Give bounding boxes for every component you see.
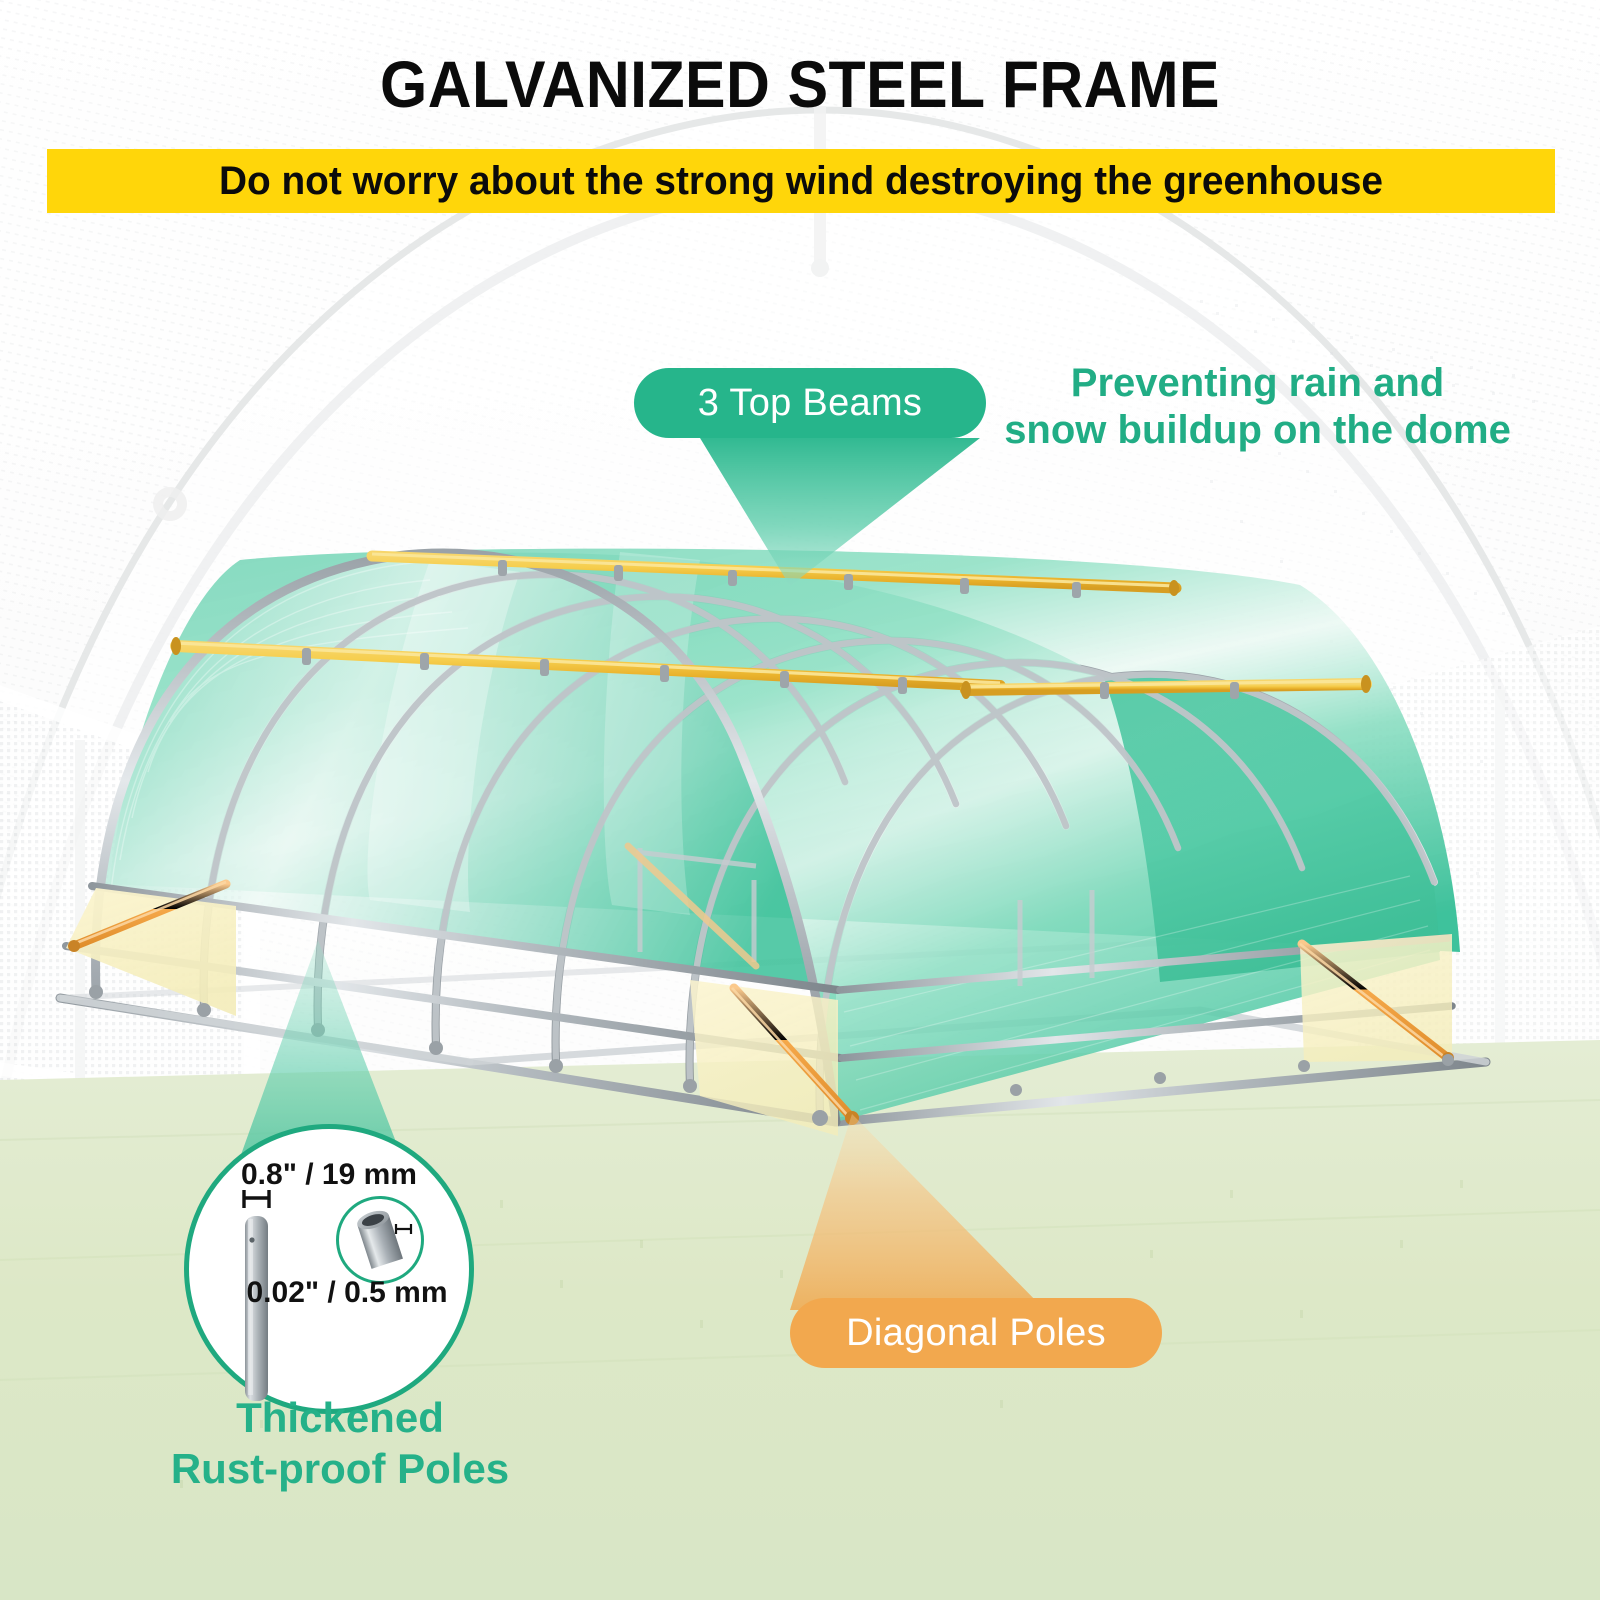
- benefit-text: Preventing rain and snow buildup on the …: [960, 360, 1555, 454]
- pole-wall-thickness-label: 0.02" / 0.5 mm: [222, 1276, 472, 1310]
- tagline-banner: Do not worry about the strong wind destr…: [47, 149, 1555, 213]
- diameter-bracket: [244, 1190, 269, 1208]
- callout-top-beams[interactable]: 3 Top Beams: [634, 368, 986, 438]
- page-title: GALVANIZED STEEL FRAME: [64, 46, 1536, 122]
- product-feature-image: GALVANIZED STEEL FRAME Do not worry abou…: [0, 0, 1600, 1600]
- benefit-text-line2: snow buildup on the dome: [960, 407, 1555, 454]
- pole-detail-caption-line2: Rust-proof Poles: [171, 1445, 509, 1492]
- callout-diagonal-poles-label: Diagonal Poles: [846, 1312, 1106, 1355]
- tube-cross-section: [339, 1199, 421, 1281]
- callout-top-beams-label: 3 Top Beams: [698, 382, 922, 425]
- benefit-text-line1: Preventing rain and: [1071, 361, 1444, 405]
- pole-detail-graphics: [184, 1124, 474, 1414]
- callout-diagonal-poles[interactable]: Diagonal Poles: [790, 1298, 1162, 1368]
- tagline-text: Do not worry about the strong wind destr…: [70, 149, 1533, 213]
- pole-detail-caption-line1: Thickened: [236, 1394, 444, 1441]
- pole-detail-caption: Thickened Rust-proof Poles: [110, 1392, 570, 1494]
- pole-cross-section-circle: [336, 1196, 424, 1284]
- thickness-bracket: [396, 1224, 411, 1234]
- pole-detail-callout: 0.8" / 19 mm: [184, 1124, 474, 1414]
